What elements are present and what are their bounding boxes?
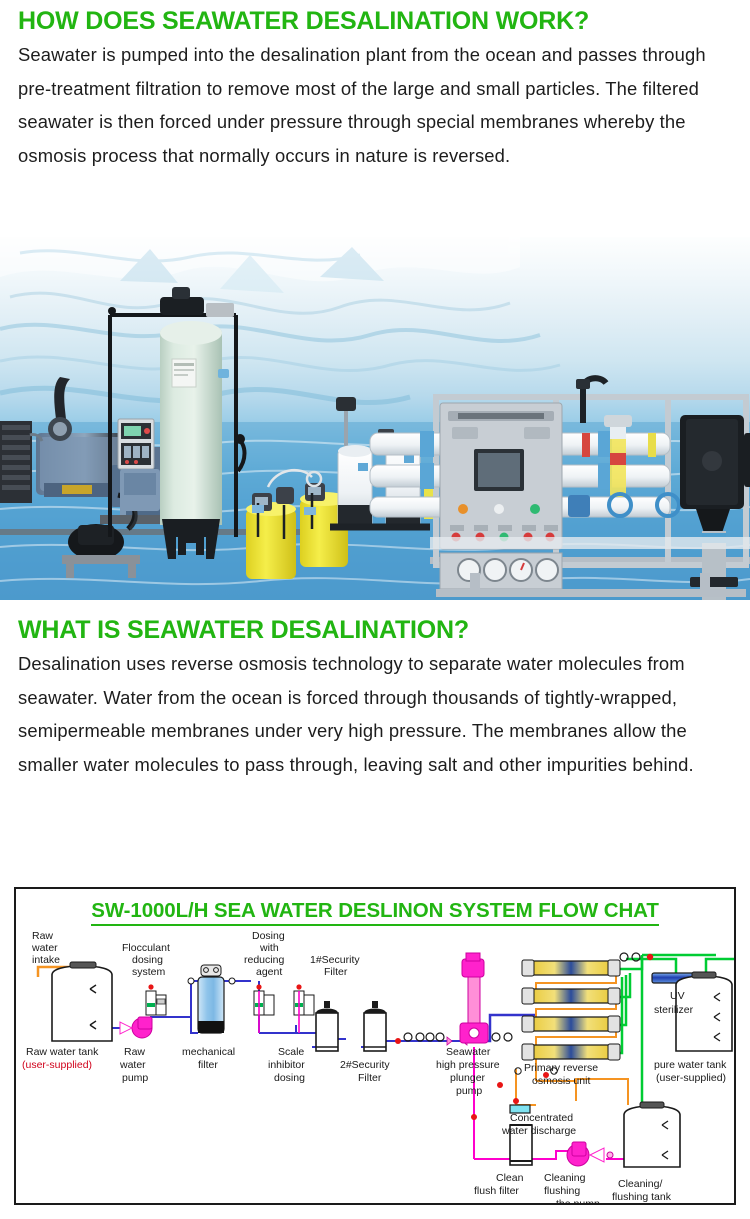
label-security-filter-1: 1#Security [310, 954, 360, 966]
label-cleaning-tank: Cleaning/ [618, 1178, 662, 1190]
svg-text:pump: pump [456, 1085, 482, 1097]
section-how-it-works: HOW DOES SEAWATER DESALINATION WORK? Sea… [18, 8, 744, 172]
svg-text:dosing: dosing [132, 954, 163, 966]
section-what-is-it: WHAT IS SEAWATER DESALINATION? Desalinat… [18, 617, 744, 781]
svg-text:flushing: flushing [544, 1185, 580, 1197]
flow-chart-title: SW-1000L/H SEA WATER DESLINON SYSTEM FLO… [16, 899, 734, 923]
svg-text:flush filter: flush filter [474, 1185, 519, 1197]
label-raw-water-pump: Raw [124, 1046, 145, 1058]
desalination-plant-photo [0, 237, 750, 600]
label-raw-water-intake: Raw [32, 930, 53, 942]
section-heading-how-it-works: HOW DOES SEAWATER DESALINATION WORK? [18, 8, 744, 34]
svg-text:filter: filter [198, 1059, 218, 1071]
label-reducing-agent-dosing: Dosing [252, 930, 285, 942]
svg-text:high pressure: high pressure [436, 1059, 500, 1071]
label-flocculant-dosing: Flocculant [122, 942, 170, 954]
flow-chart-panel: SW-1000L/H SEA WATER DESLINON SYSTEM FLO… [14, 887, 736, 1205]
svg-text:reducing: reducing [244, 954, 284, 966]
svg-text:agent: agent [256, 966, 282, 978]
svg-text:system: system [132, 966, 166, 978]
label-scale-inhibitor: Scale [278, 1046, 304, 1058]
svg-text:intake: intake [32, 954, 60, 966]
label-raw-water-tank-note: (user-supplied) [22, 1059, 92, 1071]
label-ro-unit: Primary reverse [524, 1062, 598, 1074]
svg-text:pump: pump [122, 1072, 148, 1084]
svg-text:plunger: plunger [450, 1072, 486, 1084]
svg-text:flushing tank: flushing tank [612, 1191, 672, 1203]
reducing-agent-dosing-symbol [254, 984, 274, 1033]
label-cleaning-pump: Cleaning [544, 1172, 586, 1184]
raw-water-pump-symbol [120, 1017, 152, 1038]
security-filter-1-symbol [316, 1001, 338, 1051]
label-raw-water-tank: Raw water tank [26, 1046, 99, 1058]
label-mechanical-filter: mechanical [182, 1046, 235, 1058]
section-heading-what-is-it: WHAT IS SEAWATER DESALINATION? [18, 617, 744, 643]
cleaning-flushing-tank-symbol [624, 1102, 680, 1167]
label-security-filter-2: 2#Security [340, 1059, 390, 1071]
label-pure-water-tank-note: (user-supplied) [656, 1072, 726, 1084]
label-uv-sterilizer: UV [670, 990, 685, 1002]
svg-text:water discharge: water discharge [501, 1125, 576, 1137]
security-filter-2-symbol [364, 1001, 386, 1051]
svg-text:sterilizer: sterilizer [654, 1004, 694, 1016]
label-clean-flush-filter: Clean [496, 1172, 524, 1184]
cleaning-flushing-pump-symbol [567, 1142, 613, 1166]
label-concentrate-discharge: Concentrated [510, 1112, 573, 1124]
svg-text:water: water [119, 1059, 146, 1071]
flow-chart-diagram: Raw water intake Raw water tank (user-su… [16, 929, 734, 1203]
high-pressure-pump-symbol [460, 953, 488, 1043]
svg-text:with: with [259, 942, 279, 954]
section-body-what-is-it: Desalination uses reverse osmosis techno… [18, 647, 740, 781]
svg-text:Filter: Filter [324, 966, 348, 978]
raw-water-tank-symbol [52, 962, 112, 1041]
svg-text:dosing: dosing [274, 1072, 305, 1084]
product-description-page: HOW DOES SEAWATER DESALINATION WORK? Sea… [0, 0, 750, 1219]
svg-text:Filter: Filter [358, 1072, 382, 1084]
label-hp-pump: Seawater [446, 1046, 491, 1058]
section-body-how-it-works: Seawater is pumped into the desalination… [18, 38, 734, 172]
flocculant-dosing-symbol [146, 984, 166, 1015]
svg-text:osmosis unit: osmosis unit [532, 1075, 590, 1087]
mechanical-filter-symbol [188, 965, 235, 1033]
label-pure-water-tank: pure water tank [654, 1059, 727, 1071]
flow-chart-title-text: SW-1000L/H SEA WATER DESLINON SYSTEM FLO… [91, 899, 659, 926]
svg-text:inhibitor: inhibitor [268, 1059, 305, 1071]
svg-text:water: water [31, 942, 58, 954]
svg-text:the pump: the pump [556, 1198, 600, 1203]
